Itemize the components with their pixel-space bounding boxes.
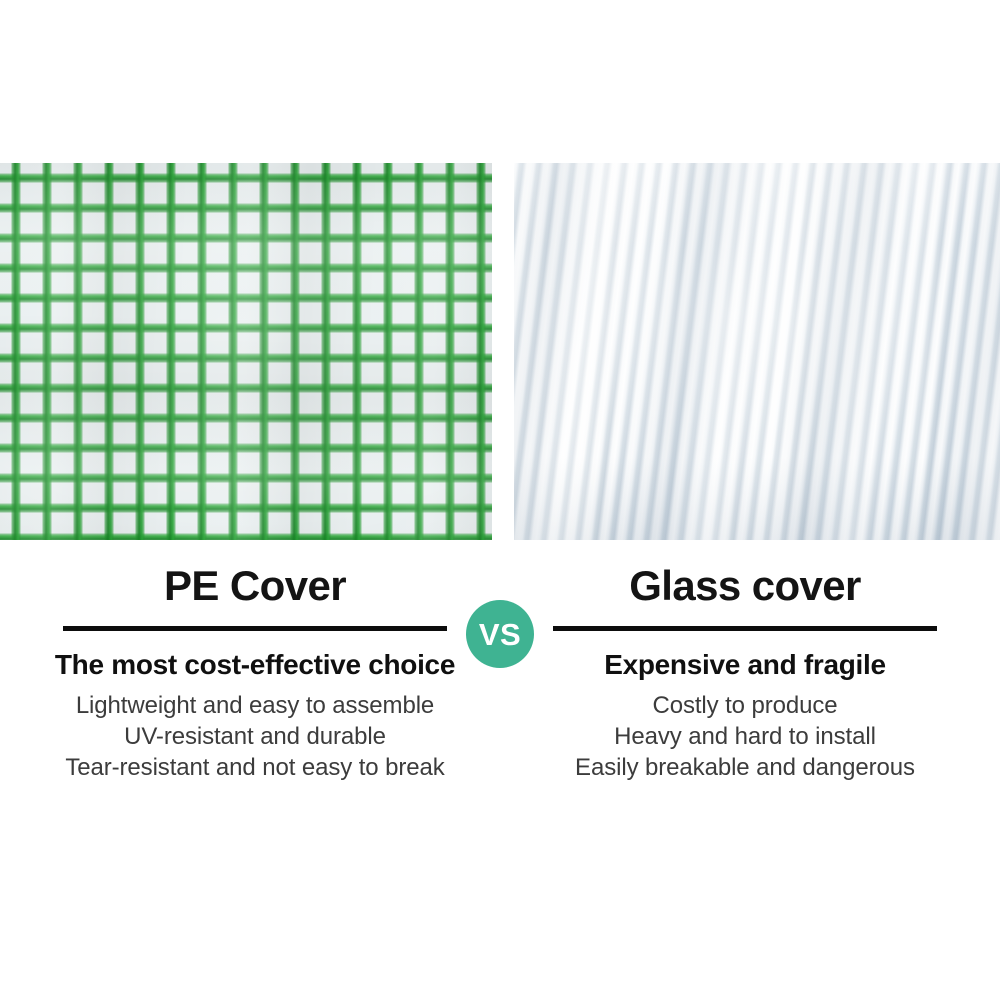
glass-drawback-list: Costly to produce Heavy and hard to inst… bbox=[510, 682, 980, 783]
list-item: Heavy and hard to install bbox=[510, 721, 980, 752]
glass-fibre-photo bbox=[514, 163, 1000, 540]
glass-subheading: Expensive and fragile bbox=[510, 631, 980, 682]
comparison-infographic: PE Cover The most cost-effective choice … bbox=[0, 0, 1000, 1000]
pe-benefit-list: Lightweight and easy to assemble UV-resi… bbox=[20, 682, 490, 783]
pe-heading: PE Cover bbox=[20, 560, 490, 616]
list-item: UV-resistant and durable bbox=[20, 721, 490, 752]
vs-badge: VS bbox=[466, 600, 534, 668]
pe-mesh-texture bbox=[0, 163, 492, 540]
pe-subheading: The most cost-effective choice bbox=[20, 631, 490, 682]
glass-fibre-texture bbox=[514, 163, 1000, 540]
pe-mesh-photo bbox=[0, 163, 492, 540]
comparison-column-pe: PE Cover The most cost-effective choice … bbox=[20, 560, 490, 783]
photo-panels bbox=[0, 163, 1000, 540]
list-item: Costly to produce bbox=[510, 690, 980, 721]
list-item: Tear-resistant and not easy to break bbox=[20, 752, 490, 783]
glass-heading: Glass cover bbox=[510, 560, 980, 616]
vs-badge-label: VS bbox=[479, 619, 521, 650]
comparison-columns: PE Cover The most cost-effective choice … bbox=[0, 560, 1000, 810]
list-item: Lightweight and easy to assemble bbox=[20, 690, 490, 721]
comparison-column-glass: Glass cover Expensive and fragile Costly… bbox=[510, 560, 980, 783]
list-item: Easily breakable and dangerous bbox=[510, 752, 980, 783]
